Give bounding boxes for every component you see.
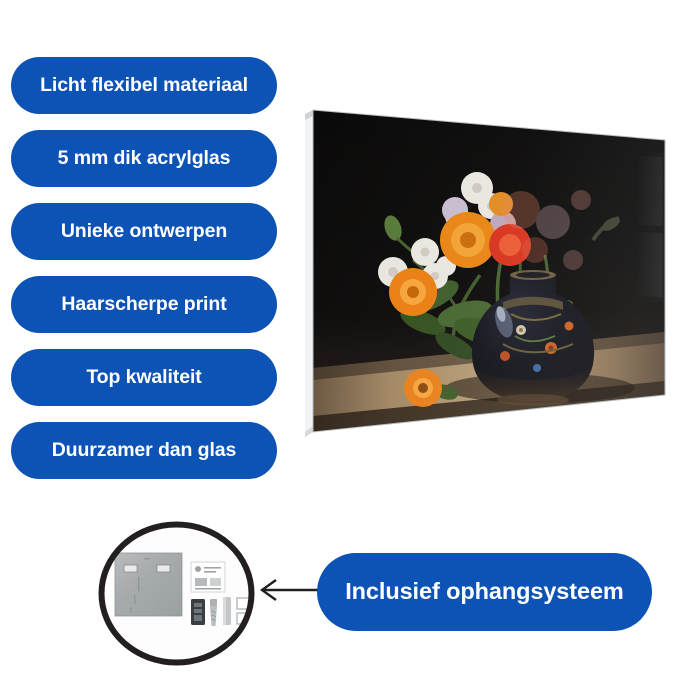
feature-badge: Licht flexibel materiaal	[11, 57, 277, 114]
acrylic-panel-artwork	[305, 100, 675, 445]
feature-badge: Unieke ontwerpen	[11, 203, 277, 260]
mounting-plate-icon	[115, 553, 182, 616]
feature-badge-label: 5 mm dik acrylglas	[58, 149, 231, 169]
spacer-icon	[223, 597, 231, 625]
hanging-system-callout-badge: Inclusief ophangsysteem	[317, 553, 652, 631]
feature-badge-list: Licht flexibel materiaal 5 mm dik acrylg…	[11, 57, 277, 495]
panel-edge-left	[305, 110, 313, 437]
feature-badge: Haarscherpe print	[11, 276, 277, 333]
artwork-image	[305, 100, 675, 445]
feature-badge: 5 mm dik acrylglas	[11, 130, 277, 187]
hanging-system-callout-label: Inclusief ophangsysteem	[345, 580, 623, 604]
feature-badge-label: Haarscherpe print	[61, 295, 226, 315]
feature-badge-label: Unieke ontwerpen	[61, 222, 227, 242]
feature-badge: Duurzamer dan glas	[11, 422, 277, 479]
feature-badge-label: Licht flexibel materiaal	[40, 76, 248, 96]
hanging-kit-photo	[98, 521, 255, 666]
product-panel	[305, 100, 675, 445]
feature-badge-label: Duurzamer dan glas	[52, 441, 237, 461]
feature-badge-label: Top kwaliteit	[86, 368, 201, 388]
instruction-sheet-icon	[191, 562, 225, 592]
feature-badge: Top kwaliteit	[11, 349, 277, 406]
hanging-kit-inset	[98, 521, 255, 666]
